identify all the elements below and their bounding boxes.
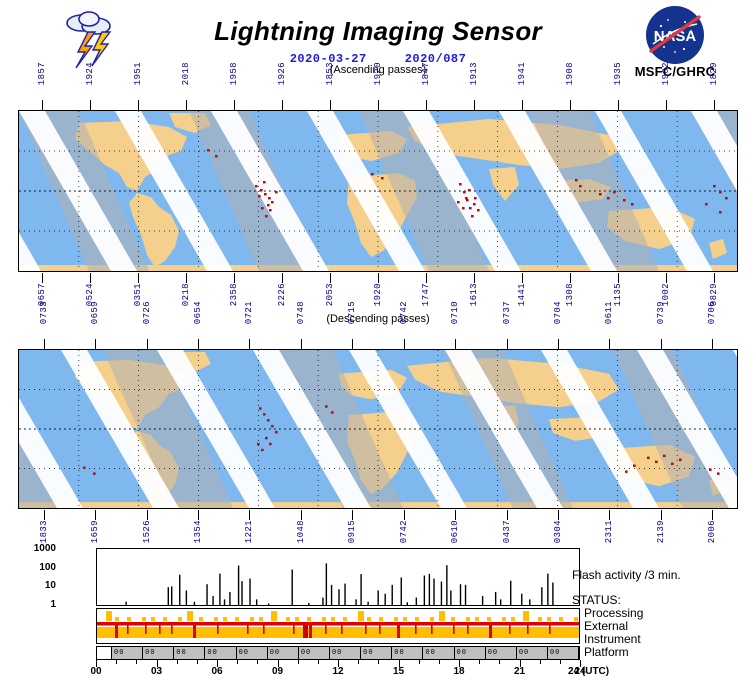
- lightning-flash-point: [457, 201, 460, 203]
- orbit-desc-bot-label: 0915: [347, 520, 357, 543]
- hour-label: 18: [453, 666, 464, 677]
- orbit-asc-top-tick: [522, 100, 523, 110]
- descending-passes-map: 0733065907260654072107480715074207100737…: [18, 331, 738, 525]
- lightning-flash-point: [267, 419, 270, 421]
- orbit-asc-bot-tick: [90, 273, 91, 283]
- status-mark: [151, 617, 155, 621]
- status-mark: [430, 617, 434, 621]
- hour-tick: [479, 660, 480, 664]
- hour-tick: [116, 660, 117, 664]
- hour-label: 15: [393, 666, 404, 677]
- orbit-asc-bot-tick: [138, 273, 139, 283]
- lightning-flash-point: [474, 197, 477, 199]
- status-mark: [475, 617, 479, 621]
- orbit-asc-bot-label: 1308: [565, 283, 575, 306]
- orbit-asc-bot-label: 2226: [277, 283, 287, 306]
- status-mark: [127, 625, 129, 634]
- orbit-desc-top-label: 0737: [502, 301, 512, 324]
- status-mark: [171, 625, 173, 634]
- lightning-flash-point: [371, 173, 374, 175]
- status-mark: [415, 625, 417, 634]
- lightning-flash-point: [713, 185, 716, 187]
- orbit-desc-top-label: 0721: [244, 301, 254, 324]
- lightning-flash-point: [261, 449, 264, 451]
- lightning-flash-point: [473, 203, 476, 205]
- legend-flash-activity: Flash activity /3 min.: [572, 568, 752, 582]
- lightning-flash-point: [269, 443, 272, 445]
- lightning-flash-point: [265, 437, 268, 439]
- status-mark: [247, 625, 249, 634]
- status-mark: [379, 625, 381, 634]
- orbit-desc-bot-tick: [661, 510, 662, 520]
- orbit-desc-top-tick: [352, 339, 353, 349]
- status-mark: [142, 617, 146, 621]
- status-mark: [487, 617, 491, 621]
- orbit-asc-top-tick: [282, 100, 283, 110]
- orbit-desc-top-label: 0715: [347, 301, 357, 324]
- orbit-asc-top-tick: [714, 100, 715, 110]
- status-mark: [341, 625, 343, 634]
- orbit-desc-bot-tick: [404, 510, 405, 520]
- status-mark: [451, 617, 455, 621]
- status-mark: [331, 617, 335, 621]
- lightning-flash-point: [215, 155, 218, 157]
- hour-tick: [298, 660, 299, 664]
- status-mark: [115, 625, 118, 638]
- lightning-flash-point: [625, 470, 628, 472]
- orbit-desc-top-tick: [712, 339, 713, 349]
- y-tick-label: 1000: [0, 543, 56, 554]
- orbit-asc-top-label: 1857: [37, 62, 47, 85]
- status-mark: [263, 625, 265, 634]
- hour-label: 06: [211, 666, 222, 677]
- orbit-asc-bot-tick: [330, 273, 331, 283]
- hour-tick: [257, 660, 258, 664]
- platform-gap: [97, 647, 112, 659]
- orbit-desc-bot-label: 0742: [399, 520, 409, 543]
- lightning-flash-point: [263, 181, 266, 183]
- hour-label: 12: [332, 666, 343, 677]
- orbit-desc-top-tick: [147, 339, 148, 349]
- orbit-asc-top-tick: [474, 100, 475, 110]
- status-mark: [271, 611, 277, 621]
- status-mark: [307, 617, 311, 621]
- orbit-asc-top-tick: [234, 100, 235, 110]
- lightning-flash-point: [207, 149, 210, 151]
- orbit-asc-bot-tick: [618, 273, 619, 283]
- orbit-desc-bot-label: 1221: [244, 520, 254, 543]
- hour-tick: [237, 660, 238, 664]
- hour-tick: [499, 660, 500, 664]
- orbit-asc-bot-label: 1920: [373, 283, 383, 306]
- ascending-bottom-orbit-ticks: 0657052403510218235822262053192017471613…: [18, 273, 738, 301]
- lightning-flash-point: [719, 211, 722, 213]
- lightning-flash-point: [465, 197, 468, 199]
- flash-activity-chart: 1000100101 00000000000000000000000000000…: [60, 548, 580, 666]
- status-mark: [523, 611, 529, 621]
- orbit-desc-bot-label: 0304: [553, 520, 563, 543]
- flash-activity-plot: [96, 548, 580, 606]
- orbit-asc-top-label: 2018: [181, 62, 191, 85]
- lightning-flash-point: [255, 185, 258, 187]
- orbit-desc-bot-label: 2311: [604, 520, 614, 543]
- platform-segment: 00: [205, 647, 236, 659]
- orbit-desc-top-tick: [404, 339, 405, 349]
- orbit-asc-bot-tick: [570, 273, 571, 283]
- lightning-flash-point: [271, 425, 274, 427]
- lightning-flash-point: [260, 189, 263, 191]
- platform-segment: 00: [174, 647, 205, 659]
- orbit-asc-top-label: 1958: [229, 62, 239, 85]
- status-mark: [293, 625, 295, 634]
- orbit-asc-top-label: 1902: [661, 62, 671, 85]
- orbit-desc-bot-tick: [507, 510, 508, 520]
- orbit-asc-top-label: 1847: [421, 62, 431, 85]
- orbit-asc-bot-label: 1747: [421, 283, 431, 306]
- orbit-asc-bot-tick: [426, 273, 427, 283]
- orbit-asc-bot-tick: [42, 273, 43, 283]
- orbit-asc-top-tick: [186, 100, 187, 110]
- legend-status-heading: STATUS:: [572, 593, 752, 607]
- status-mark: [453, 625, 455, 634]
- lightning-flash-point: [671, 463, 674, 465]
- platform-segment: 00: [237, 647, 268, 659]
- instrument-status-band: [97, 627, 579, 638]
- lightning-flash-point: [631, 203, 634, 205]
- status-mark: [250, 617, 254, 621]
- platform-segment: 00: [299, 647, 330, 659]
- orbit-asc-bot-tick: [378, 273, 379, 283]
- lightning-flash-point: [471, 215, 474, 217]
- orbit-asc-top-tick: [426, 100, 427, 110]
- lightning-flash-point: [623, 199, 626, 201]
- orbit-asc-top-tick: [378, 100, 379, 110]
- orbit-desc-top-label: 0704: [553, 301, 563, 324]
- orbit-asc-bot-tick: [234, 273, 235, 283]
- status-mark: [325, 625, 327, 634]
- orbit-desc-bot-label: 1833: [39, 520, 49, 543]
- lightning-flash-point: [265, 215, 268, 217]
- status-mark: [193, 625, 196, 638]
- status-mark: [217, 625, 219, 634]
- orbit-asc-top-label: 1920: [373, 62, 383, 85]
- lightning-flash-point: [599, 193, 602, 195]
- orbit-asc-top-tick: [570, 100, 571, 110]
- lightning-flash-point: [271, 201, 274, 203]
- hour-tick: [197, 660, 198, 664]
- platform-status-row: 000000000000000000000000000000: [96, 646, 580, 660]
- status-mark: [489, 625, 492, 638]
- orbit-asc-bot-label: 1135: [613, 283, 623, 306]
- lightning-flash-point: [613, 191, 616, 193]
- orbit-asc-top-label: 1935: [613, 62, 623, 85]
- lightning-flash-point: [463, 191, 466, 193]
- orbit-asc-top-tick: [42, 100, 43, 110]
- lightning-flash-point: [93, 472, 96, 474]
- status-mark: [547, 617, 551, 621]
- lightning-flash-point: [264, 193, 267, 195]
- orbit-asc-bot-label: 1441: [517, 283, 527, 306]
- status-mark: [415, 617, 419, 621]
- status-mark: [115, 617, 119, 621]
- lightning-flash-point: [462, 207, 465, 209]
- orbit-desc-top-tick: [507, 339, 508, 349]
- orbit-desc-bot-label: 2006: [707, 520, 717, 543]
- status-mark: [365, 625, 367, 634]
- hour-tick: [439, 660, 440, 664]
- status-mark: [106, 611, 112, 621]
- status-mark: [538, 617, 542, 621]
- y-tick-label: 10: [0, 580, 56, 591]
- orbit-asc-top-label: 1829: [709, 62, 719, 85]
- lightning-flash-point: [258, 195, 261, 197]
- descending-top-orbit-ticks: 0733065907260654072107480715074207100737…: [18, 321, 738, 349]
- orbit-asc-top-label: 1941: [517, 62, 527, 85]
- hour-tick: [378, 660, 379, 664]
- hour-tick: [136, 660, 137, 664]
- orbit-desc-top-label: 0710: [450, 301, 460, 324]
- orbit-desc-bot-label: 1048: [296, 520, 306, 543]
- platform-segment: 00: [455, 647, 486, 659]
- lightning-flash-point: [275, 431, 278, 433]
- orbit-asc-top-tick: [618, 100, 619, 110]
- orbit-desc-top-label: 0742: [399, 301, 409, 324]
- status-mark: [431, 625, 433, 634]
- lightning-flash-point: [655, 461, 658, 463]
- lightning-flash-point: [607, 197, 610, 199]
- orbit-desc-bot-tick: [198, 510, 199, 520]
- orbit-asc-top-label: 1908: [565, 62, 575, 85]
- orbit-desc-top-tick: [455, 339, 456, 349]
- orbit-desc-top-tick: [609, 339, 610, 349]
- status-mark: [502, 617, 506, 621]
- descending-bottom-orbit-ticks: 1833165915261354122110480915074206100437…: [18, 510, 738, 538]
- lightning-flash-point: [468, 189, 471, 191]
- orbit-desc-bot-tick: [301, 510, 302, 520]
- status-mark: [527, 625, 529, 634]
- status-mark: [559, 617, 563, 621]
- orbit-asc-top-tick: [330, 100, 331, 110]
- status-bars: [96, 608, 580, 644]
- status-mark: [511, 617, 515, 621]
- orbit-desc-bot-tick: [558, 510, 559, 520]
- status-mark: [379, 617, 383, 621]
- hour-tick: [177, 660, 178, 664]
- orbit-asc-top-tick: [138, 100, 139, 110]
- legend-status-platform: Platform: [584, 646, 752, 659]
- lightning-flash-point: [381, 177, 384, 179]
- orbit-asc-top-label: 1853: [325, 62, 335, 85]
- orbit-asc-bot-tick: [714, 273, 715, 283]
- hour-label: 03: [151, 666, 162, 677]
- lightning-flash-point: [719, 191, 722, 193]
- orbit-desc-bot-label: 0610: [450, 520, 460, 543]
- lightning-flash-point: [705, 203, 708, 205]
- platform-segment: 00: [423, 647, 454, 659]
- status-mark: [343, 617, 347, 621]
- status-mark: [466, 617, 470, 621]
- orbit-asc-bot-tick: [522, 273, 523, 283]
- platform-segment: 00: [330, 647, 361, 659]
- lightning-flash-point: [663, 455, 666, 457]
- platform-segment: 00: [143, 647, 174, 659]
- orbit-asc-bot-tick: [666, 273, 667, 283]
- orbit-asc-bot-label: 1613: [469, 283, 479, 306]
- lightning-flash-point: [267, 204, 270, 206]
- orbit-asc-bot-label: 2053: [325, 283, 335, 306]
- platform-segment: 00: [268, 647, 299, 659]
- orbit-desc-bot-label: 1659: [90, 520, 100, 543]
- lightning-flash-point: [275, 191, 278, 193]
- orbit-desc-top-label: 0706: [707, 301, 717, 324]
- utc-axis-label: 24 (UTC): [568, 666, 609, 677]
- orbit-desc-top-label: 0733: [39, 301, 49, 324]
- lightning-flash-point: [633, 465, 636, 467]
- chart-legend: Flash activity /3 min. STATUS: Processin…: [572, 568, 752, 659]
- status-mark: [309, 625, 312, 638]
- platform-segment: 00: [517, 647, 548, 659]
- orbit-asc-bot-tick: [474, 273, 475, 283]
- orbit-asc-top-label: 1951: [133, 62, 143, 85]
- hour-label: 21: [514, 666, 525, 677]
- status-mark: [295, 617, 299, 621]
- lightning-flash-point: [325, 405, 328, 407]
- lightning-flash-point: [717, 472, 720, 474]
- orbit-asc-bot-tick: [186, 273, 187, 283]
- lightning-flash-point: [259, 407, 262, 409]
- lightning-flash-point: [725, 197, 728, 199]
- orbit-asc-bot-tick: [282, 273, 283, 283]
- orbit-desc-top-tick: [198, 339, 199, 349]
- status-mark: [127, 617, 131, 621]
- status-mark: [145, 625, 147, 634]
- orbit-desc-bot-tick: [609, 510, 610, 520]
- status-mark: [303, 625, 308, 638]
- orbit-asc-top-tick: [666, 100, 667, 110]
- orbit-desc-top-label: 0748: [296, 301, 306, 324]
- lightning-flash-point: [469, 207, 472, 209]
- orbit-desc-top-label: 0739: [656, 301, 666, 324]
- orbit-desc-top-label: 0659: [90, 301, 100, 324]
- hour-label: 00: [90, 666, 101, 677]
- status-mark: [286, 617, 290, 621]
- lightning-flash-point: [477, 209, 480, 211]
- orbit-asc-top-label: 1913: [469, 62, 479, 85]
- hour-tick: [560, 660, 561, 664]
- orbit-asc-top-label: 1924: [85, 62, 95, 85]
- orbit-desc-bot-tick: [44, 510, 45, 520]
- hour-tick: [540, 660, 541, 664]
- status-mark: [223, 617, 227, 621]
- orbit-desc-top-tick: [661, 339, 662, 349]
- ascending-map-canvas: [18, 110, 738, 272]
- lightning-flash-point: [709, 469, 712, 471]
- orbit-desc-bot-label: 2139: [656, 520, 666, 543]
- descending-map-canvas: [18, 349, 738, 509]
- lightning-flash-point: [575, 179, 578, 181]
- platform-segment: 00: [392, 647, 423, 659]
- orbit-asc-bot-label: 0218: [181, 283, 191, 306]
- hour-tick: [419, 660, 420, 664]
- lightning-flash-point: [579, 185, 582, 187]
- platform-segment: 00: [112, 647, 143, 659]
- ascending-passes-map: 1857192419512018195819261853192018471913…: [18, 82, 738, 300]
- status-mark: [509, 625, 511, 634]
- orbit-desc-bot-label: 1354: [193, 520, 203, 543]
- orbit-desc-top-tick: [558, 339, 559, 349]
- orbit-desc-top-tick: [95, 339, 96, 349]
- hour-tick: [318, 660, 319, 664]
- lightning-flash-point: [83, 467, 86, 469]
- lightning-flash-point: [679, 459, 682, 461]
- lightning-flash-point: [331, 411, 334, 413]
- orbit-desc-bot-tick: [147, 510, 148, 520]
- lightning-flash-point: [263, 413, 266, 415]
- status-mark: [403, 617, 407, 621]
- orbit-desc-top-label: 0611: [604, 301, 614, 324]
- status-mark: [322, 617, 326, 621]
- orbit-desc-top-label: 0726: [142, 301, 152, 324]
- orbit-asc-bot-label: 2358: [229, 283, 239, 306]
- orbit-desc-bot-tick: [95, 510, 96, 520]
- status-mark: [163, 617, 167, 621]
- orbit-asc-top-tick: [90, 100, 91, 110]
- orbit-desc-bot-tick: [352, 510, 353, 520]
- status-mark: [467, 625, 469, 634]
- status-mark: [199, 617, 203, 621]
- status-mark: [439, 611, 445, 621]
- lightning-flash-point: [269, 209, 272, 211]
- hour-tick: [358, 660, 359, 664]
- lightning-flash-point: [257, 443, 260, 445]
- status-mark: [358, 611, 364, 621]
- orbit-desc-top-tick: [249, 339, 250, 349]
- status-mark: [214, 617, 218, 621]
- orbit-desc-bot-tick: [455, 510, 456, 520]
- orbit-desc-top-tick: [44, 339, 45, 349]
- status-mark: [397, 625, 400, 638]
- status-mark: [259, 617, 263, 621]
- lightning-flash-point: [268, 197, 271, 199]
- external-status-band: [97, 622, 579, 626]
- orbit-desc-bot-tick: [249, 510, 250, 520]
- status-mark: [549, 625, 551, 634]
- status-mark: [187, 611, 193, 621]
- lightning-flash-point: [261, 207, 264, 209]
- orbit-desc-top-tick: [301, 339, 302, 349]
- status-mark: [159, 625, 161, 634]
- y-tick-label: 100: [0, 562, 56, 573]
- lightning-flash-point: [459, 183, 462, 185]
- status-mark: [367, 617, 371, 621]
- y-tick-label: 1: [0, 599, 56, 610]
- platform-segment: 00: [486, 647, 517, 659]
- orbit-asc-top-label: 1926: [277, 62, 287, 85]
- status-mark: [394, 617, 398, 621]
- hour-axis: 000306091215182124: [96, 660, 580, 682]
- hour-label: 09: [272, 666, 283, 677]
- orbit-desc-top-label: 0654: [193, 301, 203, 324]
- ascending-top-orbit-ticks: 1857192419512018195819261853192018471913…: [18, 82, 738, 110]
- lightning-flash-point: [647, 457, 650, 459]
- orbit-desc-bot-tick: [712, 510, 713, 520]
- platform-segment: 00: [361, 647, 392, 659]
- orbit-desc-bot-label: 0437: [502, 520, 512, 543]
- orbit-desc-bot-label: 1526: [142, 520, 152, 543]
- status-mark: [178, 617, 182, 621]
- status-mark: [235, 617, 239, 621]
